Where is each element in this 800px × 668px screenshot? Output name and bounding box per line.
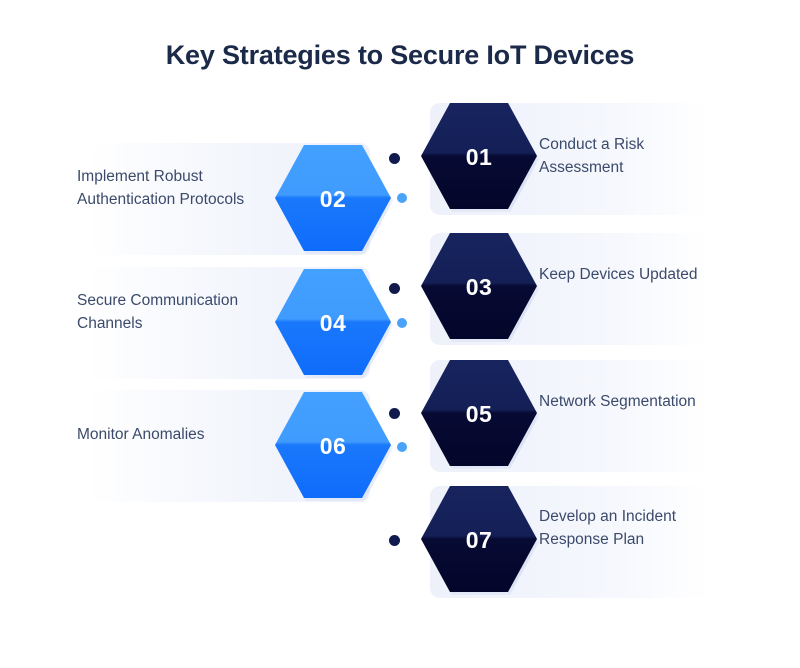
step-row-07: 07 Develop an Incident Response Plan bbox=[0, 486, 800, 598]
hexagon-number: 07 bbox=[466, 527, 493, 554]
connector-dot-blue-04 bbox=[397, 318, 407, 328]
connector-dot-dark-03 bbox=[389, 283, 400, 294]
step-label-02: Implement Robust Authentication Protocol… bbox=[77, 165, 277, 211]
hexagon-number: 02 bbox=[320, 186, 347, 213]
connector-dot-blue-06 bbox=[397, 442, 407, 452]
step-label-06: Monitor Anomalies bbox=[77, 423, 277, 446]
hexagon-number: 06 bbox=[320, 433, 347, 460]
hexagon-number: 04 bbox=[320, 310, 347, 337]
connector-dot-dark-07 bbox=[389, 535, 400, 546]
step-label-07: Develop an Incident Response Plan bbox=[539, 505, 729, 551]
connector-dot-dark-05 bbox=[389, 408, 400, 419]
step-label-04: Secure Communication Channels bbox=[77, 289, 277, 335]
connector-dot-blue-02 bbox=[397, 193, 407, 203]
connector-dot-dark-01 bbox=[389, 153, 400, 164]
page-title: Key Strategies to Secure IoT Devices bbox=[0, 40, 800, 71]
infographic-canvas: Key Strategies to Secure IoT Devices 01 … bbox=[0, 0, 800, 668]
